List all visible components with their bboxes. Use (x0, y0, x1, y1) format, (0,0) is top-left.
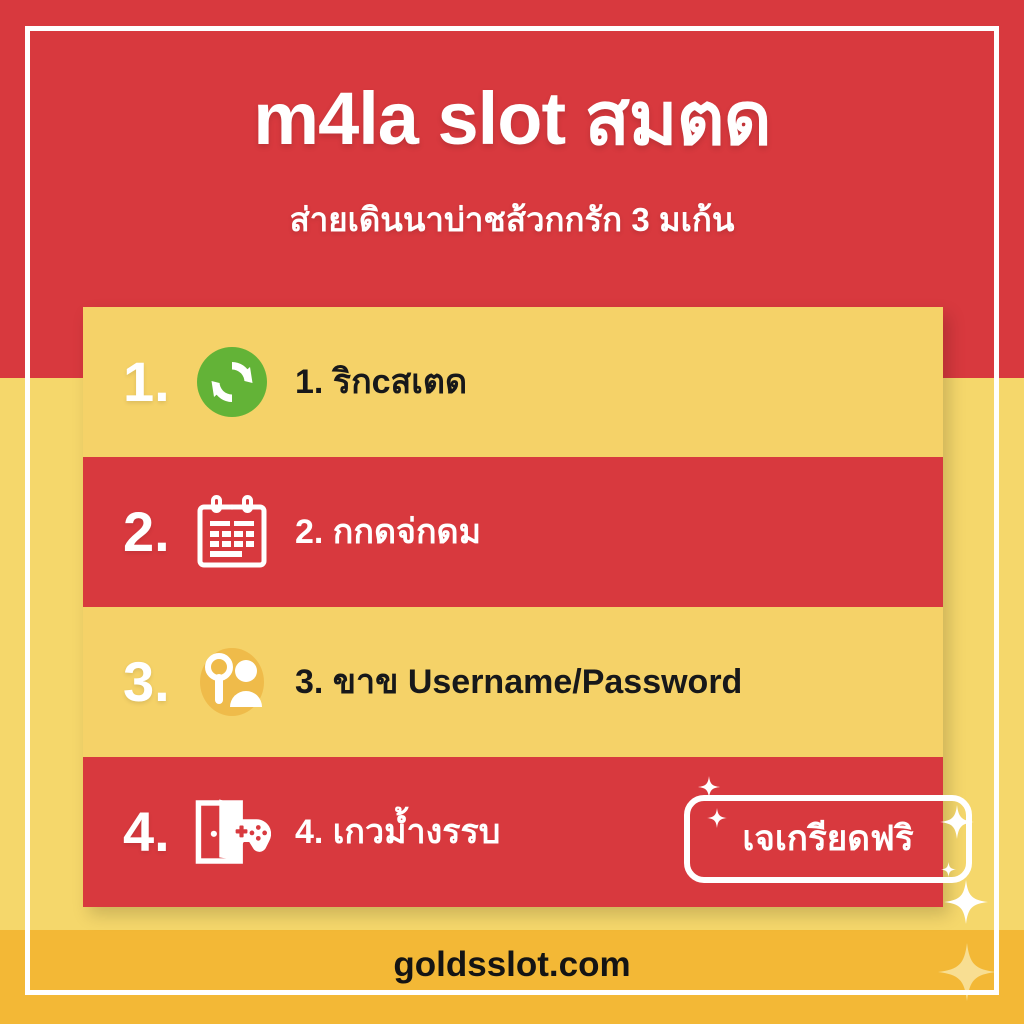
step-label-3: 3. ขาข Username/Password (295, 661, 742, 704)
step-row-2[interactable]: 2. (83, 457, 943, 607)
refresh-sync-icon (193, 343, 271, 421)
step-row-3[interactable]: 3. 3. ขาข Username/Password (83, 607, 943, 757)
website-url[interactable]: goldsslot.com (0, 945, 1024, 985)
step-label-2: 2. กกดจ่กดม (295, 511, 481, 554)
page-title: m4la slot สมตด (0, 82, 1024, 156)
step-label-4: 4. เกวม้ำงรรบ (295, 811, 500, 854)
free-badge-label: เจเกรียดฟริ (742, 821, 913, 858)
step-number-2: 2. (123, 504, 193, 560)
key-user-icon (193, 643, 271, 721)
step-number-4: 4. (123, 804, 193, 860)
step-number-3: 3. (123, 654, 193, 710)
page-subtitle: ส่ายเดินนาบ่าชส้วกกรัก 3 มเก้น (0, 200, 1024, 240)
calendar-icon (193, 493, 271, 571)
step-row-1[interactable]: 1. 1. ริกcสเตด (83, 307, 943, 457)
step-label-1: 1. ริกcสเตด (295, 361, 467, 404)
sparkle-icon-footer (938, 943, 996, 1006)
door-gamepad-icon (193, 793, 271, 871)
free-badge[interactable]: เจเกรียดฟริ (684, 795, 972, 883)
poster-canvas: m4la slot สมตด ส่ายเดินนาบ่าชส้วกกรัก 3 … (0, 0, 1024, 1024)
step-number-1: 1. (123, 354, 193, 410)
